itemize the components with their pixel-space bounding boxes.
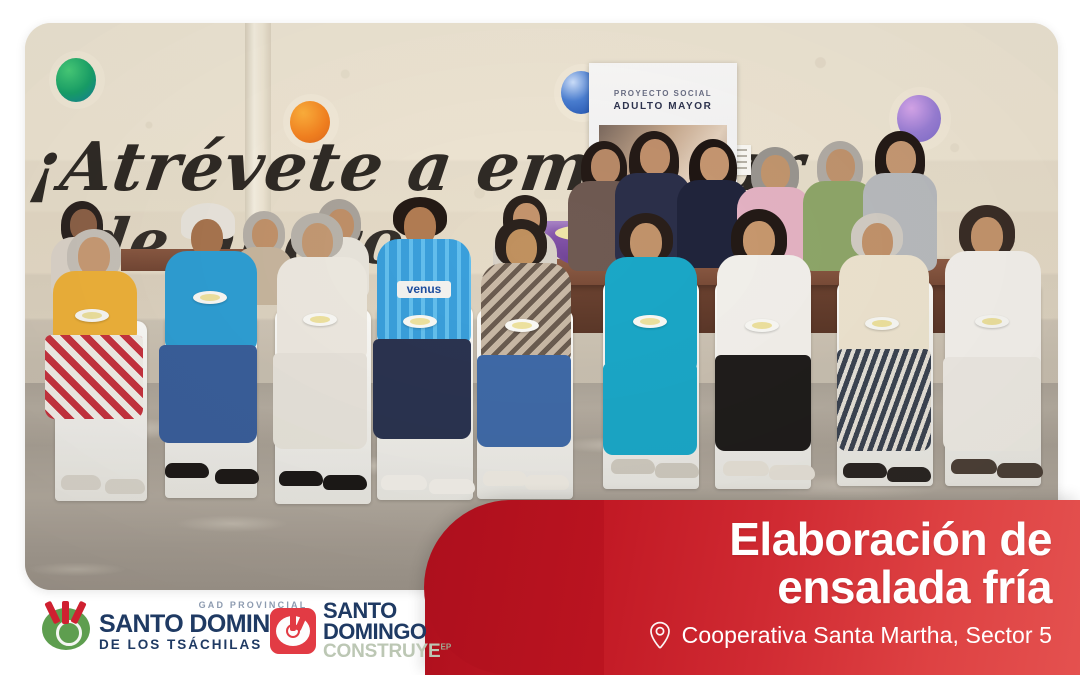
location-pin-icon	[647, 621, 673, 651]
title-banner: Elaboración de ensalada fría Cooperativa…	[425, 500, 1080, 675]
logo-bar: GAD PROVINCIAL SANTO DOMINGO DE LOS TSÁC…	[0, 596, 430, 666]
construye-line-2: DOMINGO	[323, 621, 451, 642]
banner-location-text: Cooperativa Santa Martha, Sector 5	[682, 622, 1052, 649]
construye-suffix: EP	[441, 642, 452, 651]
construye-line-1: SANTO	[323, 600, 451, 621]
headline-line-1: Elaboración de	[575, 516, 1052, 564]
headline-line-2: ensalada fría	[575, 564, 1052, 612]
logo-santo-domingo-construye: SANTO DOMINGO CONSTRUYEEP	[270, 600, 451, 661]
banner-headline: Elaboración de ensalada fría	[575, 516, 1052, 612]
construye-line-3: CONSTRUYEEP	[323, 643, 451, 661]
logo-gad-provincial: GAD PROVINCIAL SANTO DOMINGO DE LOS TSÁC…	[40, 600, 307, 652]
construye-emblem-icon	[270, 608, 316, 654]
construye-word: CONSTRUYE	[323, 641, 441, 662]
gad-emblem-icon	[40, 600, 92, 652]
